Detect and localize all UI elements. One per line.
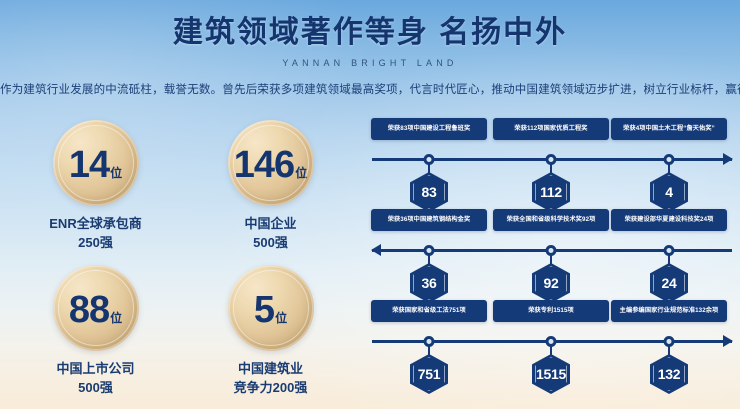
stat-coin: 14 位: [53, 120, 139, 206]
header: 建筑领域著作等身 名扬中外 YANNAN BRIGHT LAND: [0, 14, 740, 68]
stat-coin: 146 位: [228, 120, 314, 206]
arrow-right-icon: [723, 153, 733, 165]
arrow-left-icon: [371, 244, 381, 256]
stat-label-line2: 250强: [49, 234, 141, 253]
awards-timeline: 荣获83项中国建设工程鲁班奖 83 荣获112项国家优质工程奖 112: [372, 118, 732, 398]
timeline-node[interactable]: 荣获全国和省级科学技术奖92项 92: [493, 209, 609, 231]
stat-card: 88 位 中国上市公司 500强: [8, 265, 183, 398]
stat-number: 5: [254, 291, 274, 329]
stat-label: 中国企业 500强: [244, 215, 296, 253]
timeline-ring-icon: [424, 336, 435, 347]
timeline-hex-badge: 4: [650, 172, 688, 212]
timeline-hex-badge: 92: [532, 263, 570, 303]
stat-label-line2: 500强: [244, 234, 296, 253]
timeline-card-label: 荣获36项中国建筑钢结构金奖: [371, 209, 487, 231]
timeline-hex-badge: 1515: [532, 354, 570, 394]
timeline-ring-icon: [664, 245, 675, 256]
timeline-card-label: 荣获83项中国建设工程鲁班奖: [371, 118, 487, 140]
timeline-card-label: 荣获建设部华夏建设科技奖24项: [611, 209, 727, 231]
timeline-ring-icon: [424, 245, 435, 256]
arrow-right-icon: [723, 335, 733, 347]
stat-card: 5 位 中国建筑业 竞争力200强: [183, 265, 358, 398]
timeline-value: 751: [418, 367, 440, 381]
promo-banner: 建筑领域著作等身 名扬中外 YANNAN BRIGHT LAND 作为建筑行业发…: [0, 0, 740, 409]
timeline-node[interactable]: 荣获36项中国建筑钢结构金奖 36: [371, 209, 487, 231]
timeline-hex-badge: 83: [410, 172, 448, 212]
timeline-ring-icon: [546, 336, 557, 347]
stat-unit: 位: [275, 309, 287, 326]
stat-label-line1: 中国建筑业: [234, 360, 308, 379]
stat-label: 中国建筑业 竞争力200强: [234, 360, 308, 398]
stat-card: 146 位 中国企业 500强: [183, 120, 358, 253]
timeline-node[interactable]: 荣获83项中国建设工程鲁班奖 83: [371, 118, 487, 140]
timeline-node[interactable]: 荣获112项国家优质工程奖 112: [493, 118, 609, 140]
timeline-node[interactable]: 荣获国家和省级工法751项 751: [371, 300, 487, 322]
stat-label: ENR全球承包商 250强: [49, 215, 141, 253]
timeline-card-label: 荣获专利1515项: [493, 300, 609, 322]
stat-unit: 位: [110, 309, 122, 326]
stat-unit: 位: [295, 164, 307, 181]
timeline-value: 83: [422, 185, 437, 199]
timeline-row: 荣获36项中国建筑钢结构金奖 36 荣获全国和省级科学技术奖92项 92: [372, 209, 732, 300]
timeline-hex-badge: 751: [410, 354, 448, 394]
timeline-node[interactable]: 荣获4项中国土木工程“詹天佑奖” 4: [611, 118, 727, 140]
stat-coin: 5 位: [228, 265, 314, 351]
stat-number: 146: [234, 146, 294, 184]
stat-coin: 88 位: [53, 265, 139, 351]
stat-card: 14 位 ENR全球承包商 250强: [8, 120, 183, 253]
stat-unit: 位: [110, 164, 122, 181]
timeline-value: 1515: [536, 367, 566, 381]
stat-number: 88: [69, 291, 109, 329]
timeline-ring-icon: [546, 154, 557, 165]
timeline-row: 荣获国家和省级工法751项 751 荣获专利1515项 1515: [372, 300, 732, 391]
timeline-value: 24: [662, 276, 677, 290]
timeline-card-label: 荣获全国和省级科学技术奖92项: [493, 209, 609, 231]
stat-label-line1: 中国上市公司: [56, 360, 134, 379]
stat-label-line1: 中国企业: [244, 215, 296, 234]
timeline-node[interactable]: 荣获专利1515项 1515: [493, 300, 609, 322]
stat-number: 14: [69, 146, 109, 184]
timeline-ring-icon: [546, 245, 557, 256]
stat-label-line2: 竞争力200强: [234, 379, 308, 398]
stat-label-line1: ENR全球承包商: [49, 215, 141, 234]
timeline-hex-badge: 112: [532, 172, 570, 212]
timeline-row: 荣获83项中国建设工程鲁班奖 83 荣获112项国家优质工程奖 112: [372, 118, 732, 209]
timeline-card-label: 荣获112项国家优质工程奖: [493, 118, 609, 140]
stat-label-line2: 500强: [56, 379, 134, 398]
brand-subtitle: YANNAN BRIGHT LAND: [0, 58, 740, 68]
timeline-value: 4: [665, 185, 673, 199]
timeline-value: 36: [422, 276, 437, 290]
timeline-hex-badge: 24: [650, 263, 688, 303]
timeline-value: 112: [540, 185, 562, 199]
timeline-hex-badge: 36: [410, 263, 448, 303]
intro-paragraph: 作为建筑行业发展的中流砥柱，载誉无数。曾先后荣获多项建筑领域最高奖项，代言时代匠…: [0, 82, 740, 99]
timeline-card-label: 荣获4项中国土木工程“詹天佑奖”: [611, 118, 727, 140]
timeline-ring-icon: [424, 154, 435, 165]
timeline-card-label: 主编参编国家行业规范标准132余项: [611, 300, 727, 322]
timeline-hex-badge: 132: [650, 354, 688, 394]
page-title: 建筑领域著作等身 名扬中外: [0, 14, 740, 52]
timeline-ring-icon: [664, 154, 675, 165]
timeline-card-label: 荣获国家和省级工法751项: [371, 300, 487, 322]
stats-grid: 14 位 ENR全球承包商 250强 146 位 中国企业 500强: [8, 120, 358, 397]
timeline-value: 92: [544, 276, 559, 290]
timeline-value: 132: [658, 367, 680, 381]
timeline-node[interactable]: 荣获建设部华夏建设科技奖24项 24: [611, 209, 727, 231]
timeline-ring-icon: [664, 336, 675, 347]
timeline-node[interactable]: 主编参编国家行业规范标准132余项 132: [611, 300, 727, 322]
stat-label: 中国上市公司 500强: [56, 360, 134, 398]
